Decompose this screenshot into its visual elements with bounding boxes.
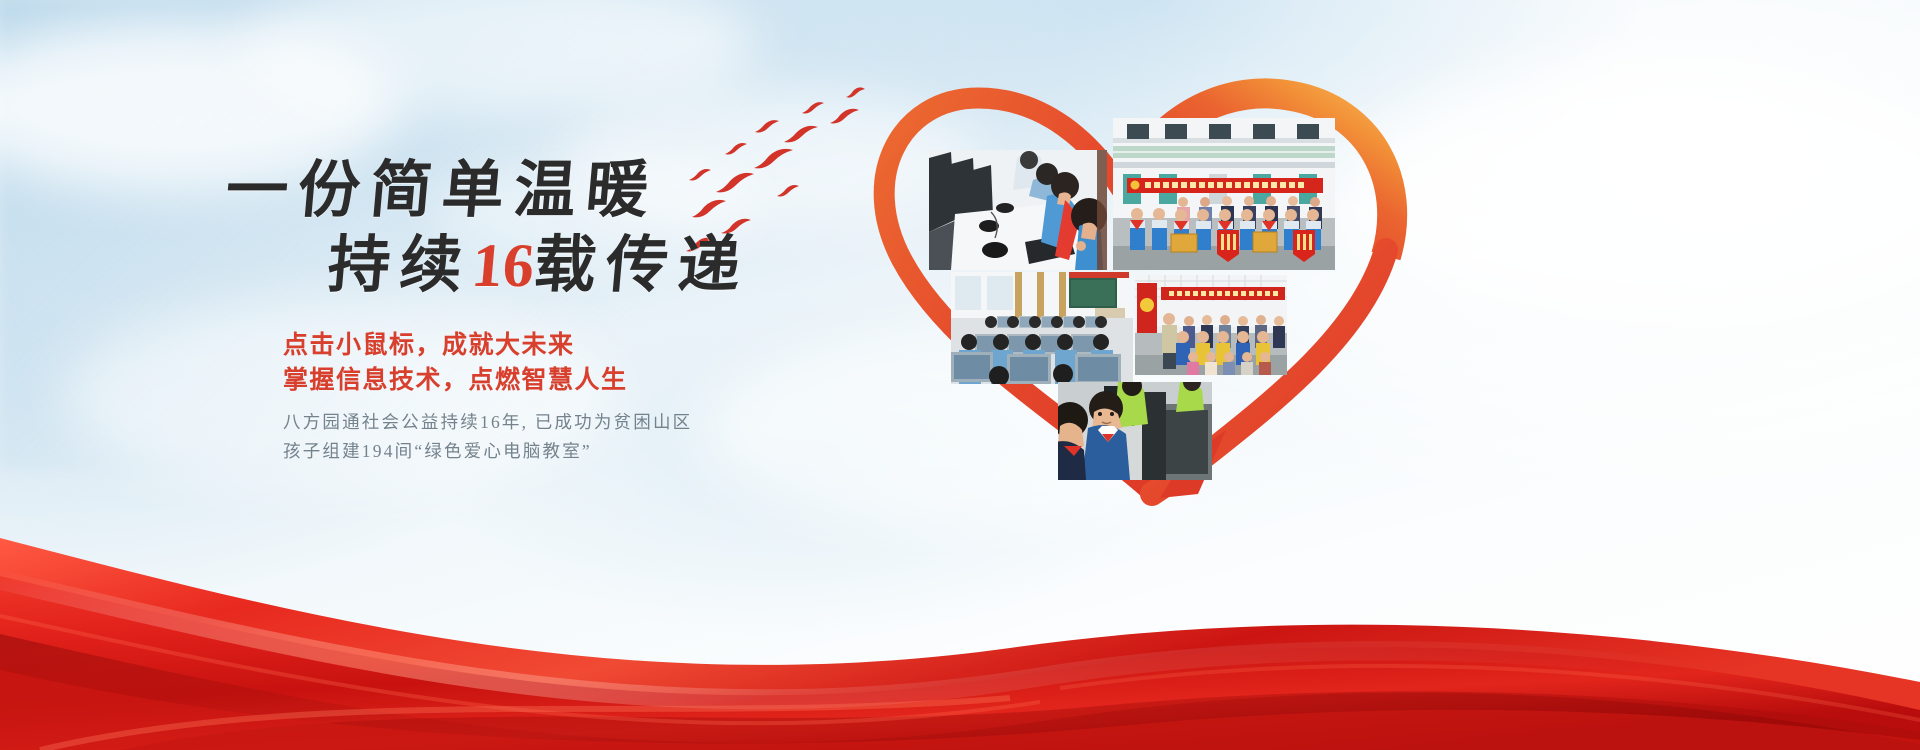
headline-line-2-prefix: 持续 <box>325 232 475 300</box>
subheadline-block: 点击小鼠标，成就大未来 掌握信息技术，点燃智慧人生 <box>283 328 628 398</box>
subheadline-line-2: 掌握信息技术，点燃智慧人生 <box>283 363 628 398</box>
headline-years-number: 16 <box>469 232 537 300</box>
headline-line-1: 一份简单温暖 <box>223 155 839 227</box>
headline-block: 一份简单温暖 持续16载传递 <box>216 155 836 303</box>
charity-banner: 一份简单温暖 持续16载传递 点击小鼠标，成就大未来 掌握信息技术，点燃智慧人生… <box>0 0 1920 750</box>
red-silk-ribbon <box>0 420 1920 750</box>
subheadline-line-1: 点击小鼠标，成就大未来 <box>283 328 628 363</box>
headline-line-2-suffix: 载传递 <box>531 232 753 300</box>
photo-classroom-mice <box>929 150 1107 270</box>
photo-ceremony-yellow <box>1135 275 1287 375</box>
photo-ceremony-school <box>1113 118 1335 270</box>
photo-classroom-wide <box>951 272 1133 384</box>
headline-line-2: 持续16载传递 <box>325 229 839 303</box>
